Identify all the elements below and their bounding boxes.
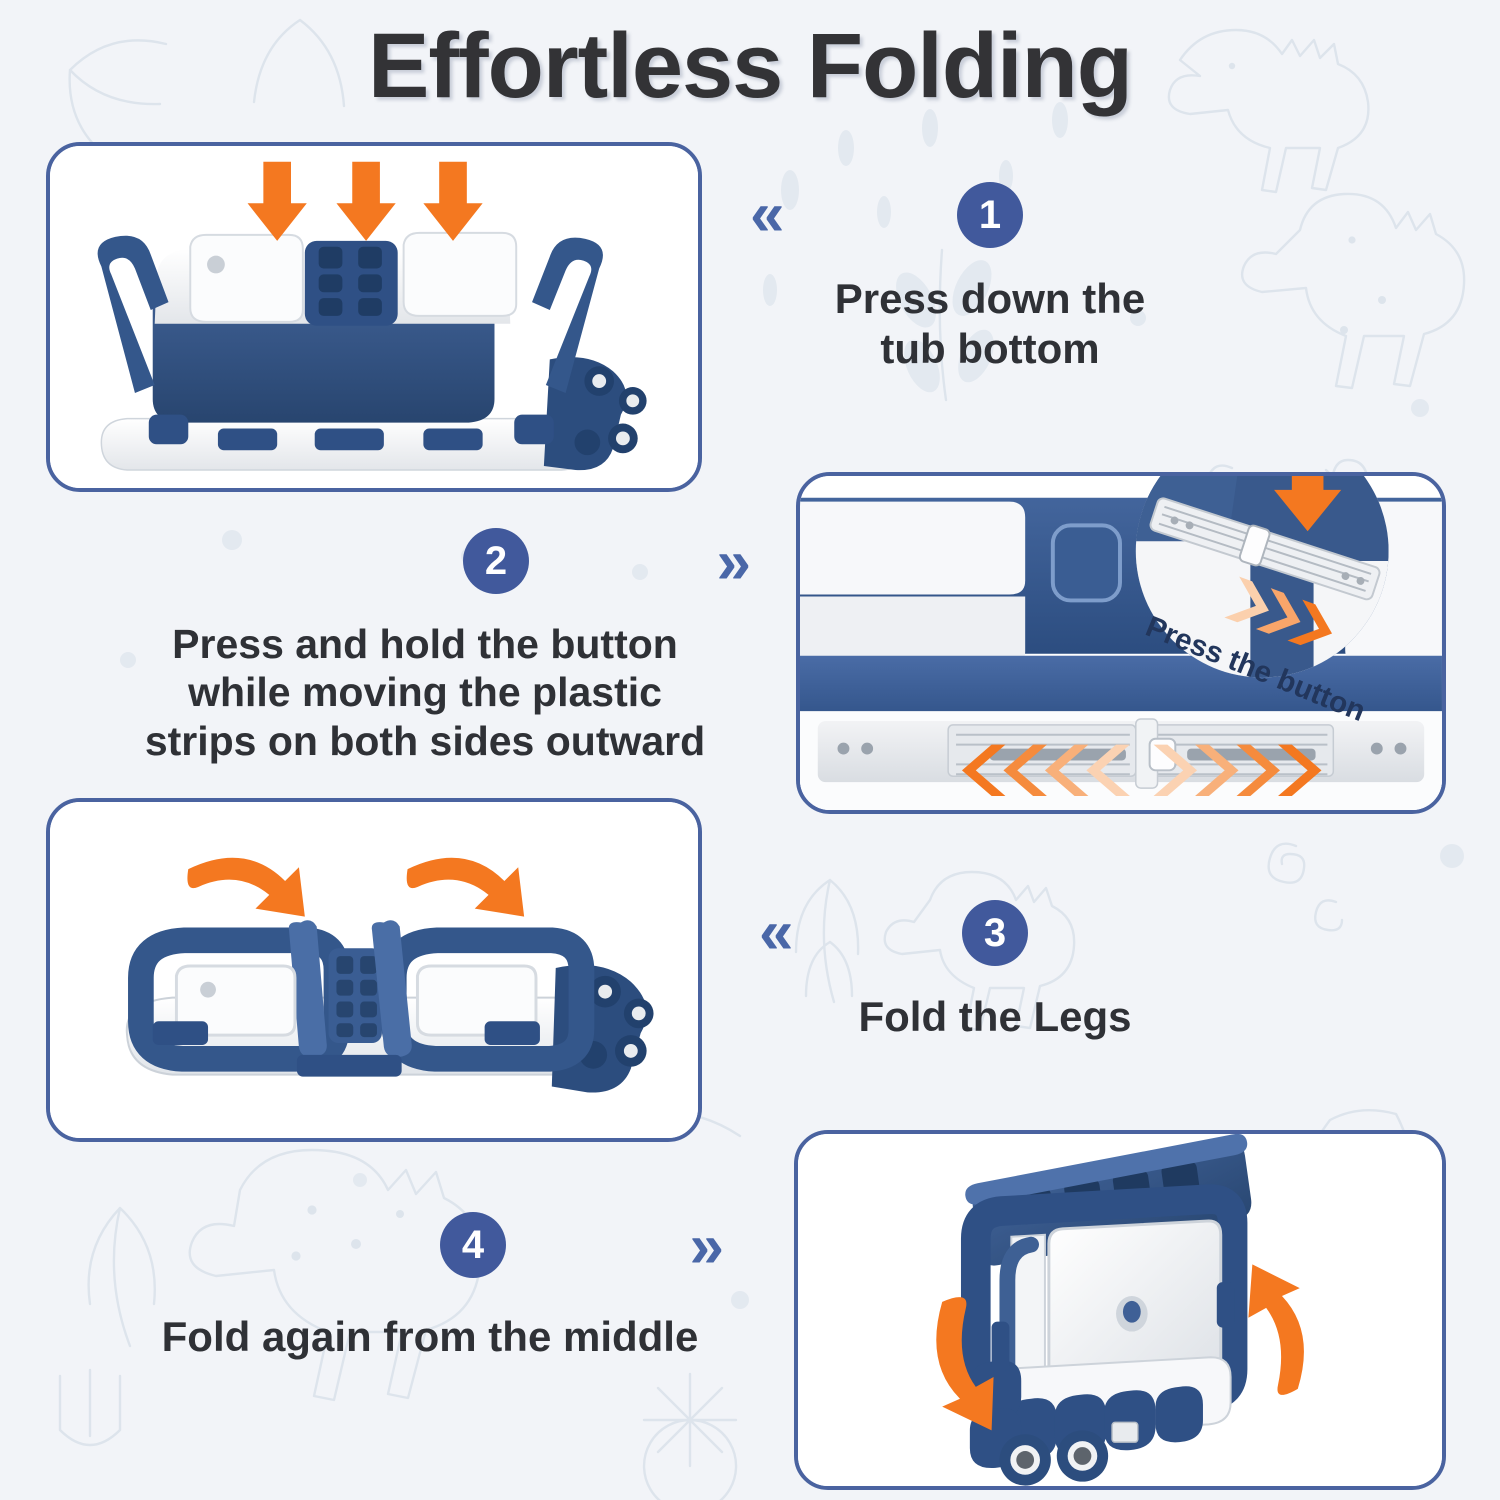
arrow-down-icon bbox=[248, 162, 483, 241]
step-1-text: Press down the tub bottom bbox=[740, 274, 1240, 373]
step-3-block: « 3 Fold the Legs bbox=[745, 900, 1245, 1042]
chevron-left-double-icon: « bbox=[759, 902, 789, 964]
chevron-right-double-icon: » bbox=[717, 532, 747, 594]
step-4-badge: 4 bbox=[440, 1212, 506, 1278]
step-2-text: Press and hold the button while moving t… bbox=[95, 620, 755, 765]
step-3-text: Fold the Legs bbox=[745, 992, 1245, 1042]
chevron-left-double-icon: « bbox=[750, 184, 780, 246]
step-1-badge: 1 bbox=[957, 182, 1023, 248]
photo-panel-step-1 bbox=[46, 142, 702, 492]
step-2-block: 2 » Press and hold the button while movi… bbox=[95, 528, 755, 765]
photo-panel-step-2: Press the button bbox=[796, 472, 1446, 814]
step-4-block: 4 » Fold again from the middle bbox=[110, 1212, 750, 1362]
step-3-badge: 3 bbox=[962, 900, 1028, 966]
step-1-block: « 1 Press down the tub bottom bbox=[740, 182, 1240, 373]
chevron-right-double-icon: » bbox=[690, 1216, 720, 1278]
step-4-text: Fold again from the middle bbox=[110, 1312, 750, 1362]
product-illustration-tub-open bbox=[50, 146, 698, 492]
page-title: Effortless Folding bbox=[0, 14, 1500, 119]
step-2-badge: 2 bbox=[463, 528, 529, 594]
photo-panel-step-3 bbox=[46, 798, 702, 1142]
product-illustration-tub-folded-upright bbox=[798, 1134, 1442, 1490]
product-illustration-tub-underside: Press the button bbox=[800, 476, 1442, 814]
product-illustration-tub-flat bbox=[50, 802, 698, 1142]
photo-panel-step-4 bbox=[794, 1130, 1446, 1490]
